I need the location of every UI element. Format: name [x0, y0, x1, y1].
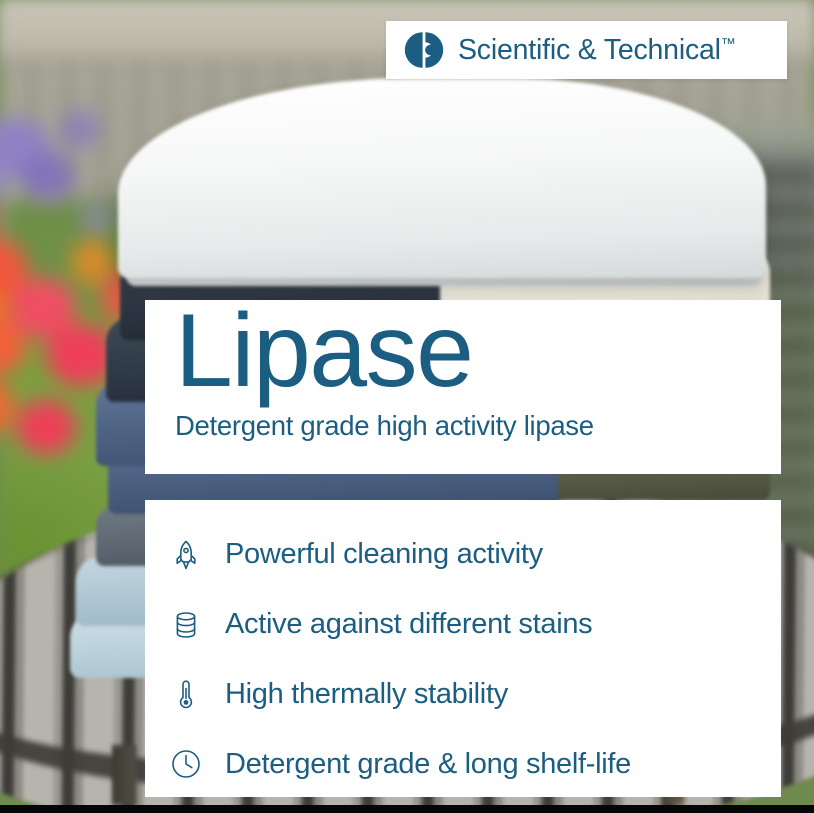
feature-row: Powerful cleaning activity [169, 522, 781, 588]
product-poster: Scientific & Technical™ Lipase Detergent… [0, 0, 814, 813]
brand-header-bar: Scientific & Technical™ [386, 21, 787, 79]
brand-name: Scientific & Technical™ [458, 34, 736, 67]
title-card: Lipase Detergent grade high activity lip… [145, 300, 781, 474]
feature-label: High thermally stability [225, 678, 508, 711]
page-title: Lipase [175, 298, 781, 404]
trademark-symbol: ™ [721, 35, 736, 52]
product-subtitle: Detergent grade high activity lipase [175, 410, 781, 442]
feature-row: Detergent grade & long shelf-life [169, 731, 781, 797]
brand-name-text: Scientific & Technical [458, 34, 721, 66]
feature-row: Active against different stains [169, 592, 781, 658]
split-circle-logo-icon [404, 30, 444, 70]
database-icon [169, 608, 203, 642]
rocket-icon [169, 538, 203, 572]
folded-white-shirt [118, 78, 766, 278]
thermometer-icon [169, 677, 203, 711]
bottom-border-strip [0, 805, 814, 813]
features-card: Powerful cleaning activity Active agains… [145, 500, 781, 797]
feature-label: Active against different stains [225, 608, 592, 641]
feature-label: Detergent grade & long shelf-life [225, 748, 631, 781]
feature-label: Powerful cleaning activity [225, 538, 543, 571]
clock-icon [169, 747, 203, 781]
feature-row: High thermally stability [169, 662, 781, 728]
